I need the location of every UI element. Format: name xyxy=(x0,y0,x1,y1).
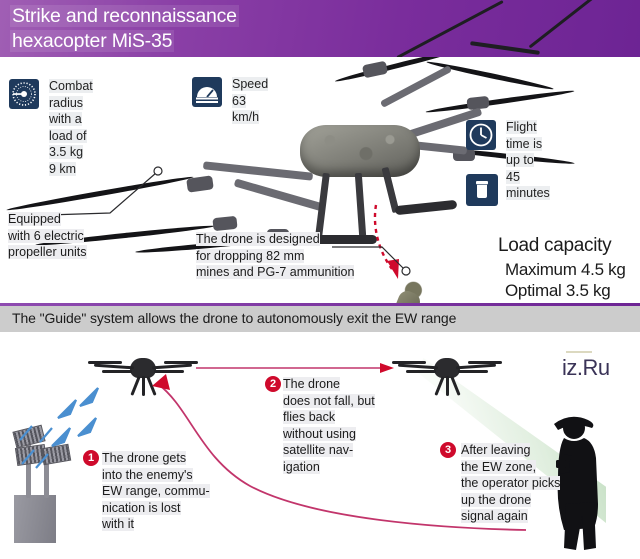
page-title-line2: hexacopter MiS-35 xyxy=(10,30,174,52)
clock-icon xyxy=(466,120,496,150)
drone-spec-panel: Combat radius with a load of 3.5 kg 9 km… xyxy=(0,57,640,303)
header-banner: Strike and reconnaissancehexacopter MiS-… xyxy=(0,0,640,57)
infographic-root: Strike and reconnaissancehexacopter MiS-… xyxy=(0,0,640,559)
guide-system-panel: 1 The drone gets into the enemy's EW ran… xyxy=(0,332,640,559)
step-2-number: 2 xyxy=(265,376,281,392)
page-title: Strike and reconnaissancehexacopter MiS-… xyxy=(10,4,239,54)
speedometer-icon xyxy=(192,77,222,107)
propeller-blade xyxy=(426,60,554,92)
drone-arm xyxy=(234,178,325,211)
drone-body xyxy=(300,125,420,177)
ew-station-base xyxy=(14,495,56,543)
section-banner-text: The "Guide" system allows the drone to a… xyxy=(12,310,456,326)
step-2-text: The drone does not fall, but flies back … xyxy=(283,376,375,475)
spec-flight-time-text: Flight time is up to 45 minutes xyxy=(506,119,550,202)
step-3-number: 3 xyxy=(440,442,456,458)
spec-speed-text: Speed 63 km/h xyxy=(232,76,268,126)
page-title-line1: Strike and reconnaissance xyxy=(10,5,239,27)
step-3-text: After leaving the EW zone, the operator … xyxy=(461,442,560,525)
section-banner: The "Guide" system allows the drone to a… xyxy=(0,306,640,332)
radar-icon xyxy=(9,79,39,109)
motor-housing xyxy=(212,216,237,231)
izru-logo: iz.Ru xyxy=(562,355,610,381)
load-capacity-values: Maximum 4.5 kg Optimal 3.5 kg xyxy=(505,259,626,301)
munition-callout: The drone is designed for dropping 82 mm… xyxy=(196,231,354,281)
logo-tick xyxy=(566,351,592,353)
header-blade-decor xyxy=(396,0,503,57)
step-1-number: 1 xyxy=(83,450,99,466)
weight-jar-icon xyxy=(466,174,498,206)
step-1-text: The drone gets into the enemy's EW range… xyxy=(102,450,210,533)
propeller-callout: Equipped with 6 electric propeller units xyxy=(8,211,87,261)
motor-housing xyxy=(186,175,214,192)
load-capacity-title: Load capacity xyxy=(498,235,611,257)
header-blade-decor-2 xyxy=(529,0,602,48)
motor-housing xyxy=(362,61,388,79)
drone-arm xyxy=(380,65,452,108)
drone-arm xyxy=(203,161,313,180)
propeller-blade xyxy=(425,89,574,115)
landing-leg xyxy=(355,173,366,237)
